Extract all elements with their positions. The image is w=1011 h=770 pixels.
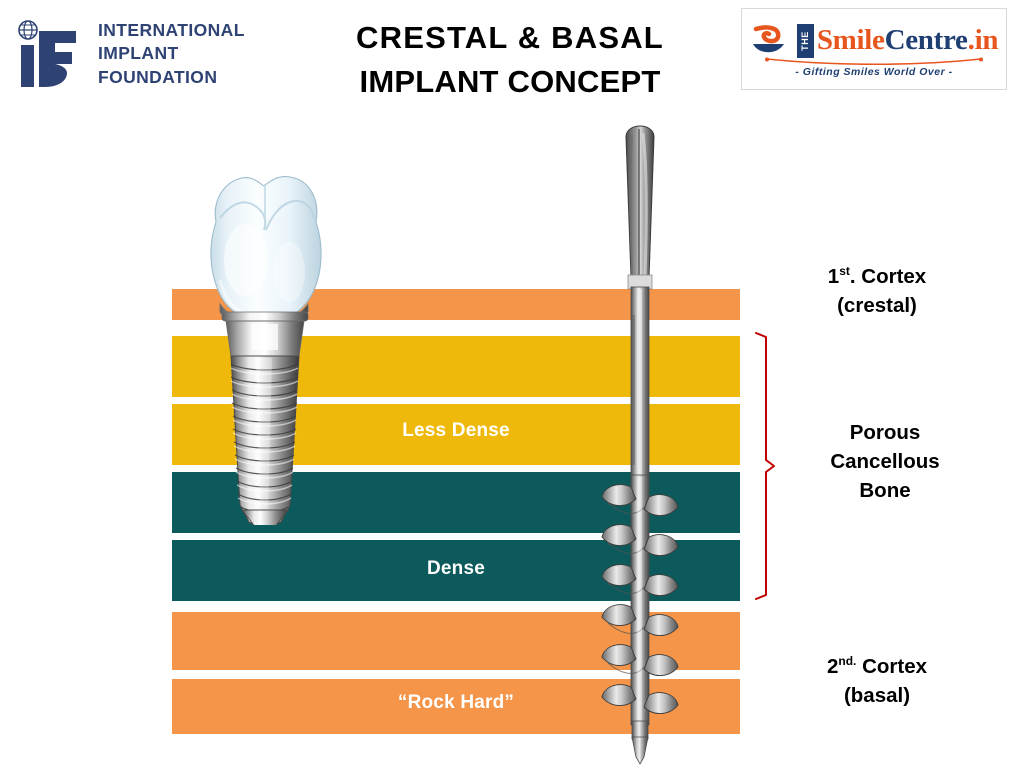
slide-canvas: INTERNATIONAL IMPLANT FOUNDATION CRESTAL… — [0, 0, 1011, 767]
label-first-cortex: 1st. Cortex (crestal) — [752, 262, 1002, 320]
label-porous-cancellous-bone: Porous Cancellous Bone — [770, 418, 1000, 505]
second-cortex-rest: Cortex — [856, 655, 927, 678]
ceramic-crown — [211, 177, 321, 322]
crestal-implant-with-crown — [186, 160, 366, 525]
abutment-collar — [220, 304, 308, 356]
porous-line1: Porous — [770, 418, 1000, 447]
porous-line3: Bone — [770, 476, 1000, 505]
label-second-cortex: 2nd. Cortex (basal) — [752, 652, 1002, 710]
conical-abutment-head — [626, 126, 654, 277]
first-cortex-number: 1 — [828, 265, 839, 288]
first-cortex-sup: st — [839, 264, 850, 278]
basal-implant — [588, 125, 694, 765]
second-cortex-number: 2 — [827, 655, 838, 678]
label-first-cortex-line2: (crestal) — [752, 291, 1002, 320]
apex-tip — [632, 721, 648, 764]
label-second-cortex-line1: 2nd. Cortex — [752, 652, 1002, 681]
porous-line2: Cancellous — [770, 447, 1000, 476]
threaded-screw-body — [231, 356, 299, 525]
label-second-cortex-line2: (basal) — [752, 681, 1002, 710]
first-cortex-rest: . Cortex — [850, 265, 926, 288]
label-first-cortex-line1: 1st. Cortex — [752, 262, 1002, 291]
second-cortex-sup: nd. — [838, 654, 856, 668]
wide-helical-threads — [602, 475, 678, 725]
thin-shaft — [631, 287, 649, 492]
